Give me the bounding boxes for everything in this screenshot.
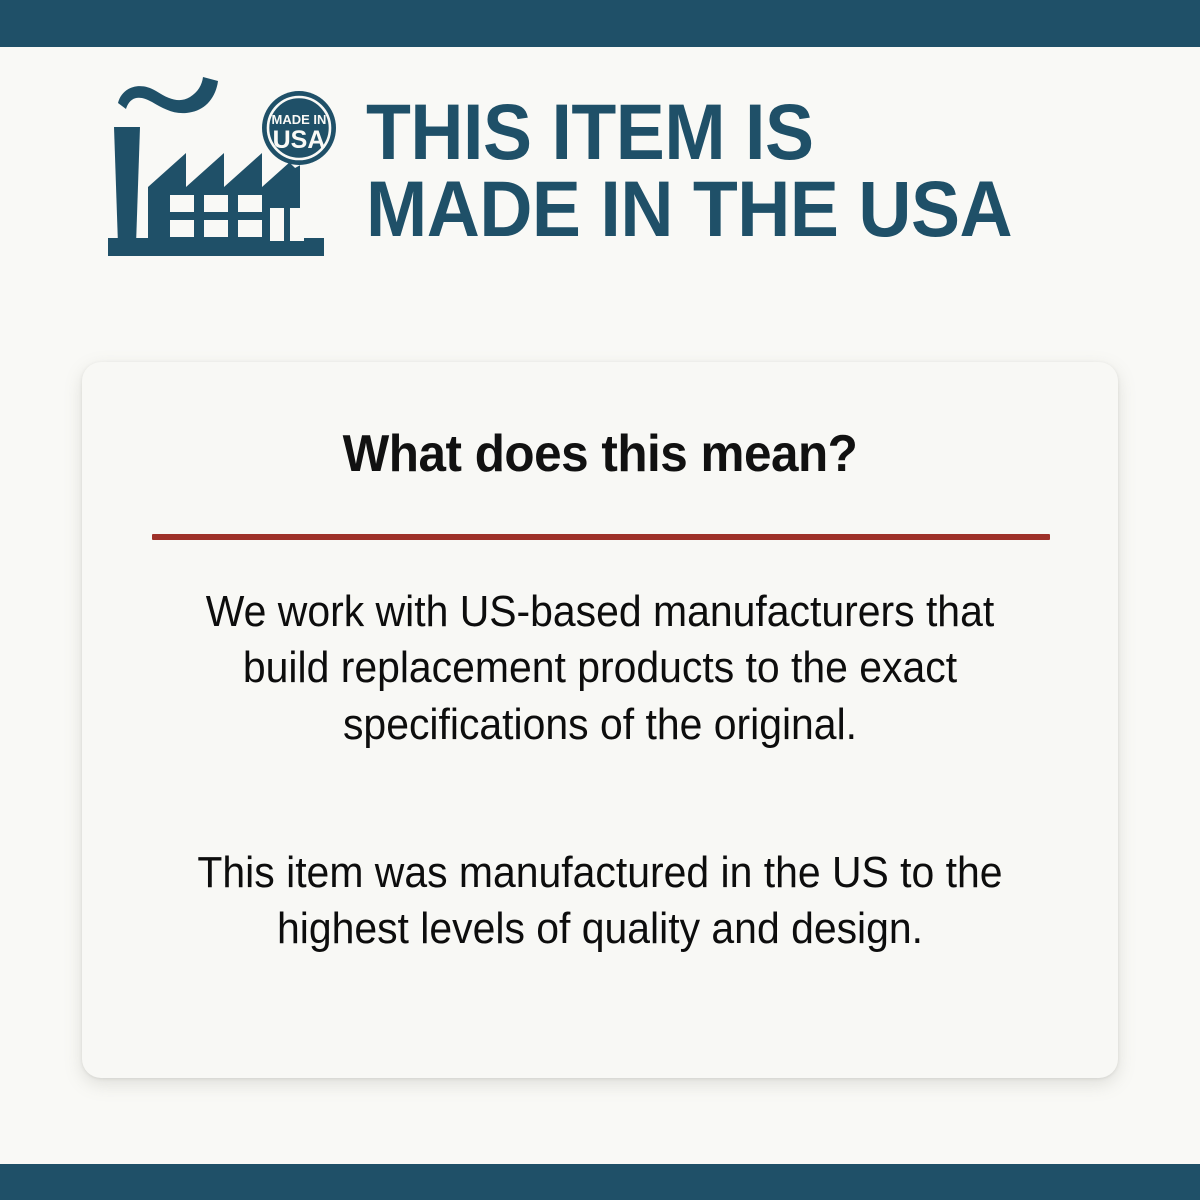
card-paragraph-2: This item was manufactured in the US to …: [172, 845, 1028, 958]
card-heading: What does this mean?: [108, 424, 1092, 484]
accent-divider: [152, 534, 1050, 540]
page-title: THIS ITEM IS MADE IN THE USA: [366, 93, 1012, 248]
badge-line-1-text: MADE IN: [272, 112, 327, 127]
info-card: What does this mean? We work with US-bas…: [82, 362, 1118, 1078]
header: MADE IN USA THIS ITEM IS MADE IN THE USA: [0, 55, 1200, 285]
factory-icon: MADE IN USA: [100, 75, 340, 265]
top-frame-bar: [0, 0, 1200, 47]
bottom-frame-bar: [0, 1164, 1200, 1200]
page-title-line-2: MADE IN THE USA: [366, 170, 1012, 247]
card-body: We work with US-based manufacturers that…: [140, 584, 1060, 958]
card-paragraph-1: We work with US-based manufacturers that…: [172, 584, 1028, 753]
badge-line-2-text: USA: [273, 126, 326, 154]
page-title-line-1: THIS ITEM IS: [366, 93, 1012, 170]
